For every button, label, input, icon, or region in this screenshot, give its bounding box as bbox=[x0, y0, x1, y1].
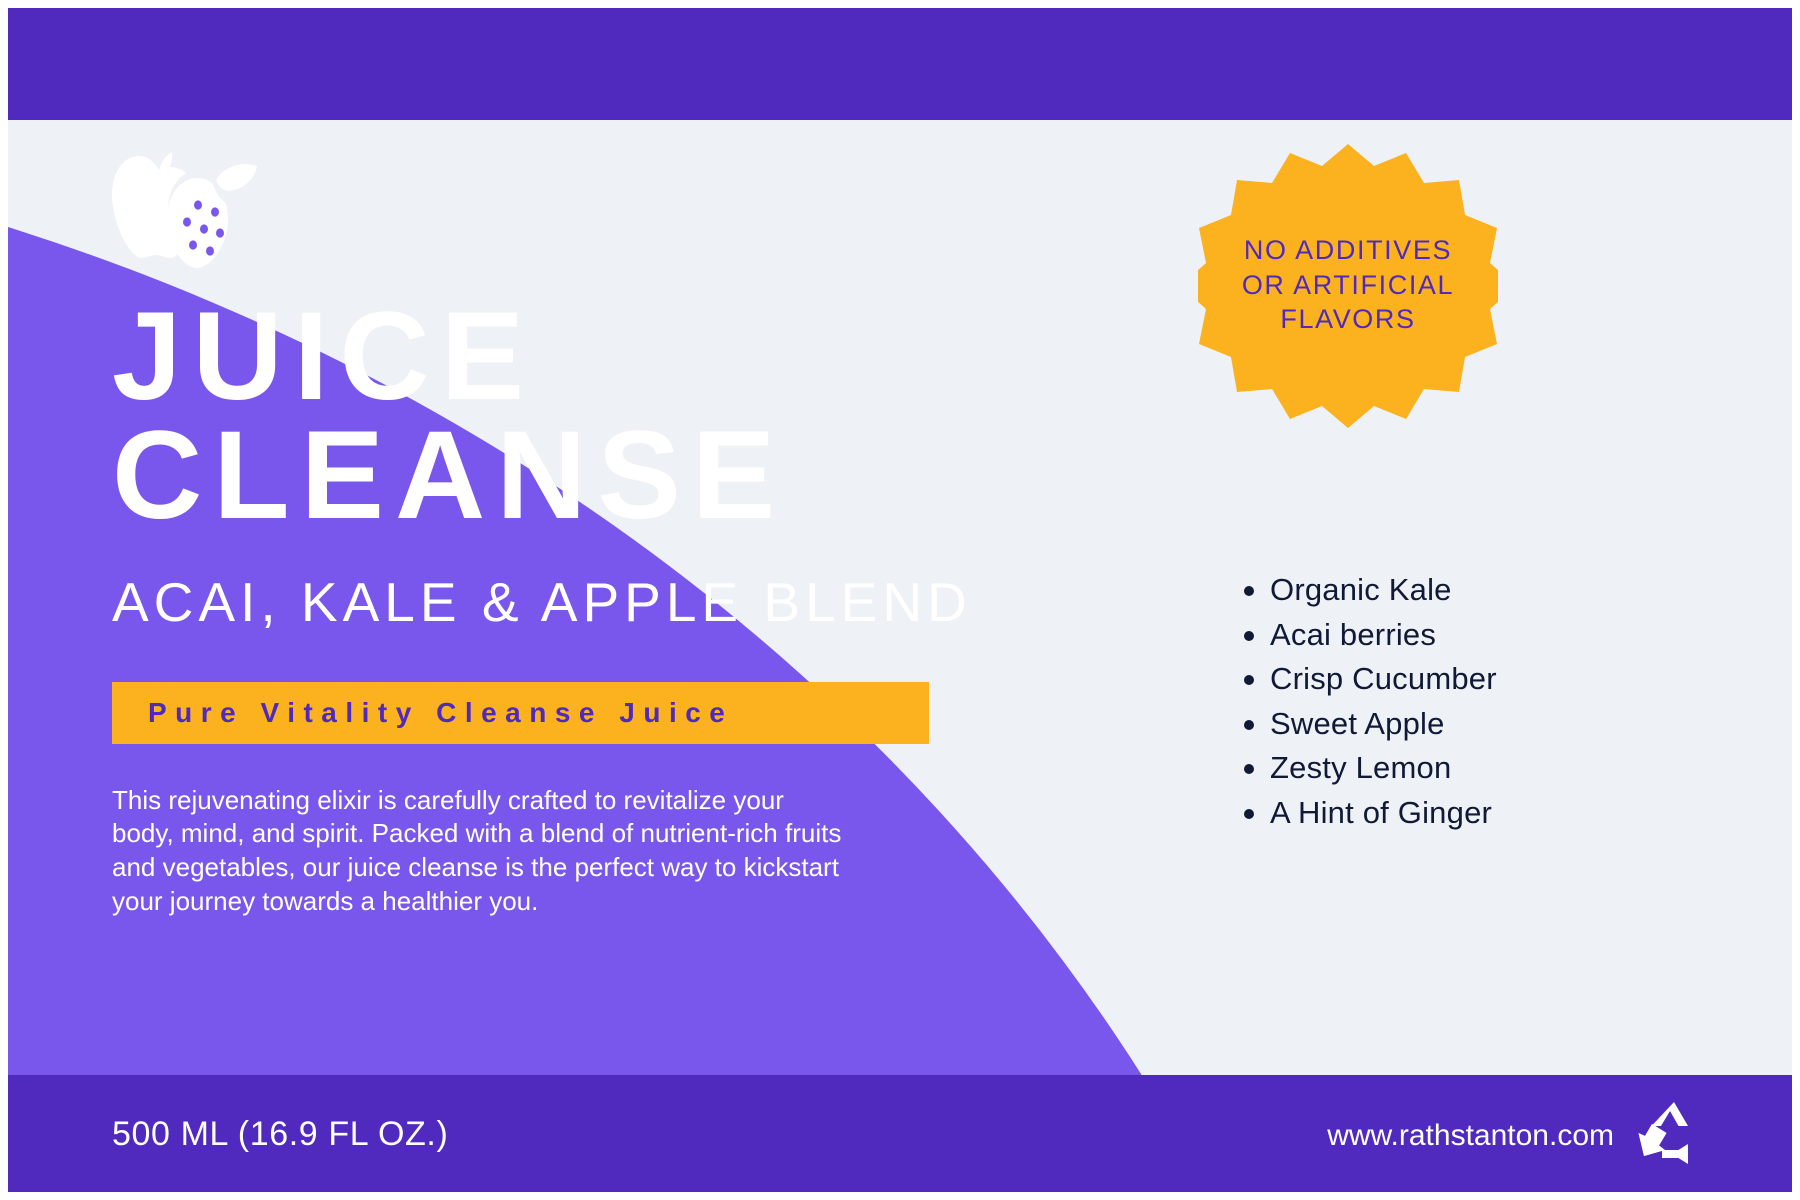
tagline-text: Pure Vitality Cleanse Juice bbox=[148, 697, 733, 729]
list-item: Zesty Lemon bbox=[1270, 750, 1570, 787]
badge-line-1: NO ADDITIVES bbox=[1244, 233, 1452, 268]
product-title-line-2: CLEANSE bbox=[112, 417, 992, 536]
top-color-band bbox=[8, 8, 1792, 120]
no-additives-badge: NO ADDITIVES OR ARTIFICIAL FLAVORS bbox=[1198, 140, 1498, 430]
net-volume-text: 500 ML (16.9 FL OZ.) bbox=[112, 1115, 448, 1154]
juice-label-canvas: JUICE CLEANSE ACAI, KALE & APPLE BLEND P… bbox=[0, 0, 1800, 1200]
product-subtitle: ACAI, KALE & APPLE BLEND bbox=[112, 570, 992, 634]
badge-text-block: NO ADDITIVES OR ARTIFICIAL FLAVORS bbox=[1198, 140, 1498, 430]
apple-berry-icon bbox=[112, 150, 272, 268]
website-url: www.rathstanton.com bbox=[1327, 1119, 1614, 1153]
badge-line-3: FLAVORS bbox=[1280, 302, 1415, 337]
product-description: This rejuvenating elixir is carefully cr… bbox=[112, 784, 842, 919]
ingredients-list: Organic Kale Acai berries Crisp Cucumber… bbox=[1240, 572, 1570, 839]
list-item: A Hint of Ginger bbox=[1270, 795, 1570, 832]
list-item: Crisp Cucumber bbox=[1270, 661, 1570, 698]
tagline-banner: Pure Vitality Cleanse Juice bbox=[112, 682, 929, 744]
list-item: Acai berries bbox=[1270, 617, 1570, 654]
product-title: JUICE CLEANSE bbox=[112, 298, 992, 536]
primary-content-column: JUICE CLEANSE ACAI, KALE & APPLE BLEND P… bbox=[112, 150, 992, 945]
list-item: Organic Kale bbox=[1270, 572, 1570, 609]
recycle-icon bbox=[1636, 1100, 1712, 1170]
badge-line-2: OR ARTIFICIAL bbox=[1242, 268, 1454, 303]
list-item: Sweet Apple bbox=[1270, 706, 1570, 743]
